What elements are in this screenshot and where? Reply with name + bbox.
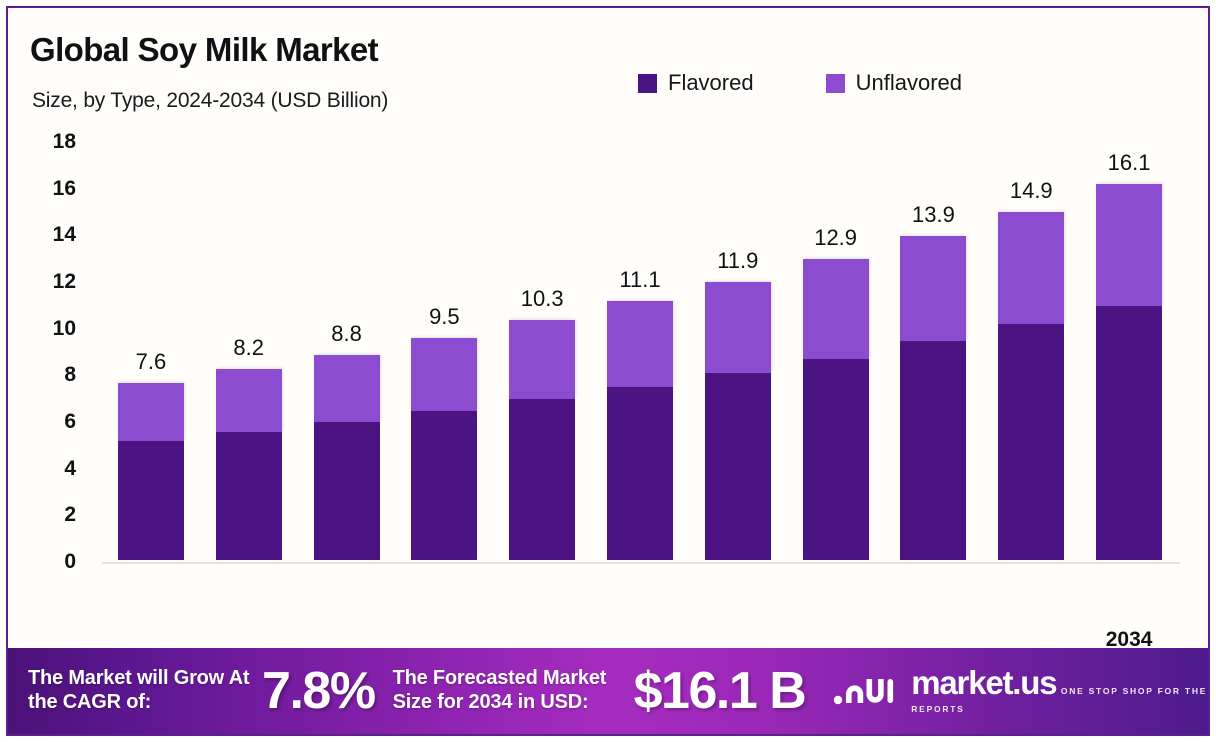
bar-segment-unflavored [411,338,477,410]
bar-segment-flavored [607,387,673,560]
y-axis-tick: 2 [30,503,76,527]
legend-swatch-icon [826,74,845,93]
legend-swatch-icon [638,74,657,93]
bar-segment-unflavored [1096,184,1162,305]
y-axis-tick: 4 [30,457,76,481]
market-us-logo: market.us ONE STOP SHOP FOR THE REPORTS [833,666,1210,717]
bar-segment-unflavored [998,212,1064,324]
bar-segment-unflavored [509,320,575,399]
legend-item-flavored[interactable]: Flavored [638,70,754,96]
bar-column[interactable]: 13.92032 [900,236,966,560]
bar-column[interactable]: 10.32028 [509,320,575,560]
bar-segment-unflavored [607,301,673,387]
y-axis-tick: 10 [30,317,76,341]
bar-segment-flavored [998,324,1064,560]
bar-segment-flavored [216,432,282,560]
chart-plot-area: 024681012141618 7.620248.220258.820269.5… [30,134,1188,619]
bar-column[interactable]: 8.82026 [314,355,380,560]
bar-column[interactable]: 12.92031 [803,259,869,560]
bar-segment-flavored [705,373,771,560]
bar-segment-flavored [118,441,184,560]
logo-name: market.us [911,664,1056,701]
bar-segment-unflavored [705,282,771,373]
bar-column[interactable]: 7.62024 [118,383,184,560]
y-axis-tick: 18 [30,130,76,154]
bar-segment-flavored [803,359,869,560]
bar-column[interactable]: 8.22025 [216,369,282,560]
chart-card: Global Soy Milk Market Size, by Type, 20… [6,6,1210,736]
y-axis-tick: 6 [30,410,76,434]
bar-segment-unflavored [900,236,966,341]
y-axis-tick: 12 [30,270,76,294]
bar-segment-flavored [314,422,380,560]
y-axis-tick: 16 [30,177,76,201]
y-axis-tick: 0 [30,550,76,574]
footer-size-label: The Forecasted Market Size for 2034 in U… [393,667,630,714]
y-axis-tick: 8 [30,363,76,387]
footer-cagr-value: 7.8% [262,661,375,721]
bar-segment-unflavored [216,369,282,432]
bar-column[interactable]: 11.92030 [705,282,771,560]
bar-column[interactable]: 9.52027 [411,338,477,560]
bar-segment-flavored [509,399,575,560]
legend-item-unflavored[interactable]: Unflavored [826,70,962,96]
bar-segment-flavored [1096,306,1162,560]
bar-value-label: 11.9 [678,248,798,274]
footer-size-value: $16.1 B [634,661,806,721]
bar-segment-unflavored [803,259,869,359]
legend-label: Flavored [668,70,754,96]
footer-banner: The Market will Grow At the CAGR of: 7.8… [8,648,1210,734]
chart-legend: FlavoredUnflavored [638,70,962,96]
bar-column[interactable]: 14.92033 [998,212,1064,560]
bar-segment-flavored [900,341,966,560]
x-axis-baseline [102,562,1180,564]
bar-value-label: 13.9 [873,202,993,228]
bar-value-label: 12.9 [776,225,896,251]
bar-value-label: 16.1 [1069,150,1189,176]
bar-segment-flavored [411,411,477,560]
y-axis-tick: 14 [30,223,76,247]
bar-column[interactable]: 11.12029 [607,301,673,560]
bar-segment-unflavored [118,383,184,441]
bar-column[interactable]: 16.12034 [1096,184,1162,560]
bar-segment-unflavored [314,355,380,423]
bars-container: 7.620248.220258.820269.5202710.3202811.1… [102,142,1178,562]
market-us-logo-mark-icon [833,671,899,712]
bar-value-label: 14.9 [971,178,1091,204]
market-us-logo-text: market.us ONE STOP SHOP FOR THE REPORTS [911,666,1210,717]
footer-cagr-label: The Market will Grow At the CAGR of: [28,667,258,714]
page-title: Global Soy Milk Market [30,31,378,69]
page-subtitle: Size, by Type, 2024-2034 (USD Billion) [32,89,388,113]
legend-label: Unflavored [856,70,962,96]
